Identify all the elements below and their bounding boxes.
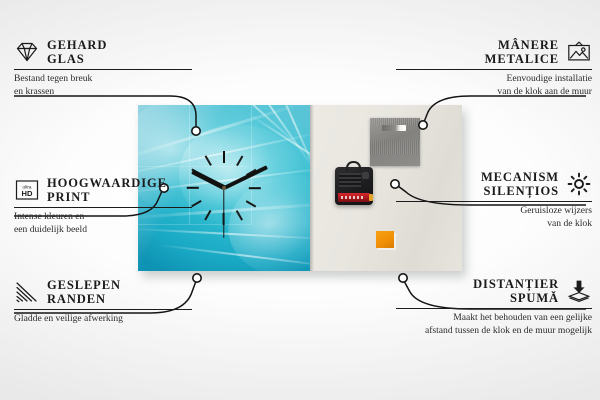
callout-title: GEHARD GLAS xyxy=(47,38,107,66)
callout-rule xyxy=(396,308,592,309)
callout-manere-metalice: MÂNERE METALICE Eenvoudige installatie v… xyxy=(380,38,592,98)
gear-icon xyxy=(566,171,592,197)
spacer-down-arrow-icon xyxy=(566,278,592,304)
aa-battery xyxy=(338,193,370,202)
clock-center-cap xyxy=(222,186,226,190)
ultra-hd-icon: ultra HD xyxy=(14,177,40,203)
metal-hanger-plate xyxy=(370,118,420,166)
picture-hanger-icon xyxy=(566,39,592,65)
callout-rule xyxy=(396,69,592,70)
foam-spacer xyxy=(376,231,394,248)
battery-label xyxy=(341,196,363,199)
callout-rule xyxy=(14,309,192,310)
callout-title: MÂNERE METALICE xyxy=(485,38,559,66)
callout-mecanism-silentios: MECANISM SILENȚIOS Geruisloze wijzers va… xyxy=(380,170,592,230)
callout-header: DISTANȚIER SPUMĂ xyxy=(380,277,592,305)
callout-header: ultra HD HOOGWAARDIGE PRINT xyxy=(14,176,210,204)
callout-hoogwaardige-print: ultra HD HOOGWAARDIGE PRINT Intense kleu… xyxy=(14,176,210,236)
callout-header: GESLEPEN RANDEN xyxy=(14,278,210,306)
hanger-slot xyxy=(382,125,406,131)
callout-title: GESLEPEN RANDEN xyxy=(47,278,121,306)
svg-text:HD: HD xyxy=(22,189,33,198)
beveled-edge-icon xyxy=(14,279,40,305)
movement-setting-knob xyxy=(362,172,369,179)
callout-header: GEHARD GLAS xyxy=(14,38,210,66)
callout-subtitle: Eenvoudige installatie van de klok aan d… xyxy=(380,73,592,98)
clock-movement xyxy=(335,167,373,205)
callout-title: HOOGWAARDIGE PRINT xyxy=(47,176,167,204)
callout-geslepen-randen: GESLEPEN RANDEN Gladde en veilige afwerk… xyxy=(14,278,210,326)
callout-title: DISTANȚIER SPUMĂ xyxy=(473,277,559,305)
callout-subtitle: Maakt het behouden van een gelijke afsta… xyxy=(380,312,592,337)
callout-rule xyxy=(14,207,192,208)
movement-hanger-loop xyxy=(346,161,361,171)
diamond-icon xyxy=(14,39,40,65)
callout-gehard-glas: GEHARD GLAS Bestand tegen breuk en krass… xyxy=(14,38,210,98)
callout-rule xyxy=(396,201,592,202)
movement-grill xyxy=(339,173,361,187)
callout-subtitle: Geruisloze wijzers van de klok xyxy=(380,205,592,230)
callout-header: MÂNERE METALICE xyxy=(380,38,592,66)
callout-subtitle: Gladde en veilige afwerking xyxy=(14,313,210,325)
infographic-canvas: GEHARD GLAS Bestand tegen breuk en krass… xyxy=(0,0,600,400)
callout-distantier-spuma: DISTANȚIER SPUMĂ Maakt het behouden van … xyxy=(380,277,592,337)
callout-rule xyxy=(14,69,192,70)
callout-subtitle: Intense kleuren en een duidelijk beeld xyxy=(14,211,210,236)
callout-subtitle: Bestand tegen breuk en krassen xyxy=(14,73,210,98)
callout-header: MECANISM SILENȚIOS xyxy=(380,170,592,198)
callout-title: MECANISM SILENȚIOS xyxy=(481,170,559,198)
